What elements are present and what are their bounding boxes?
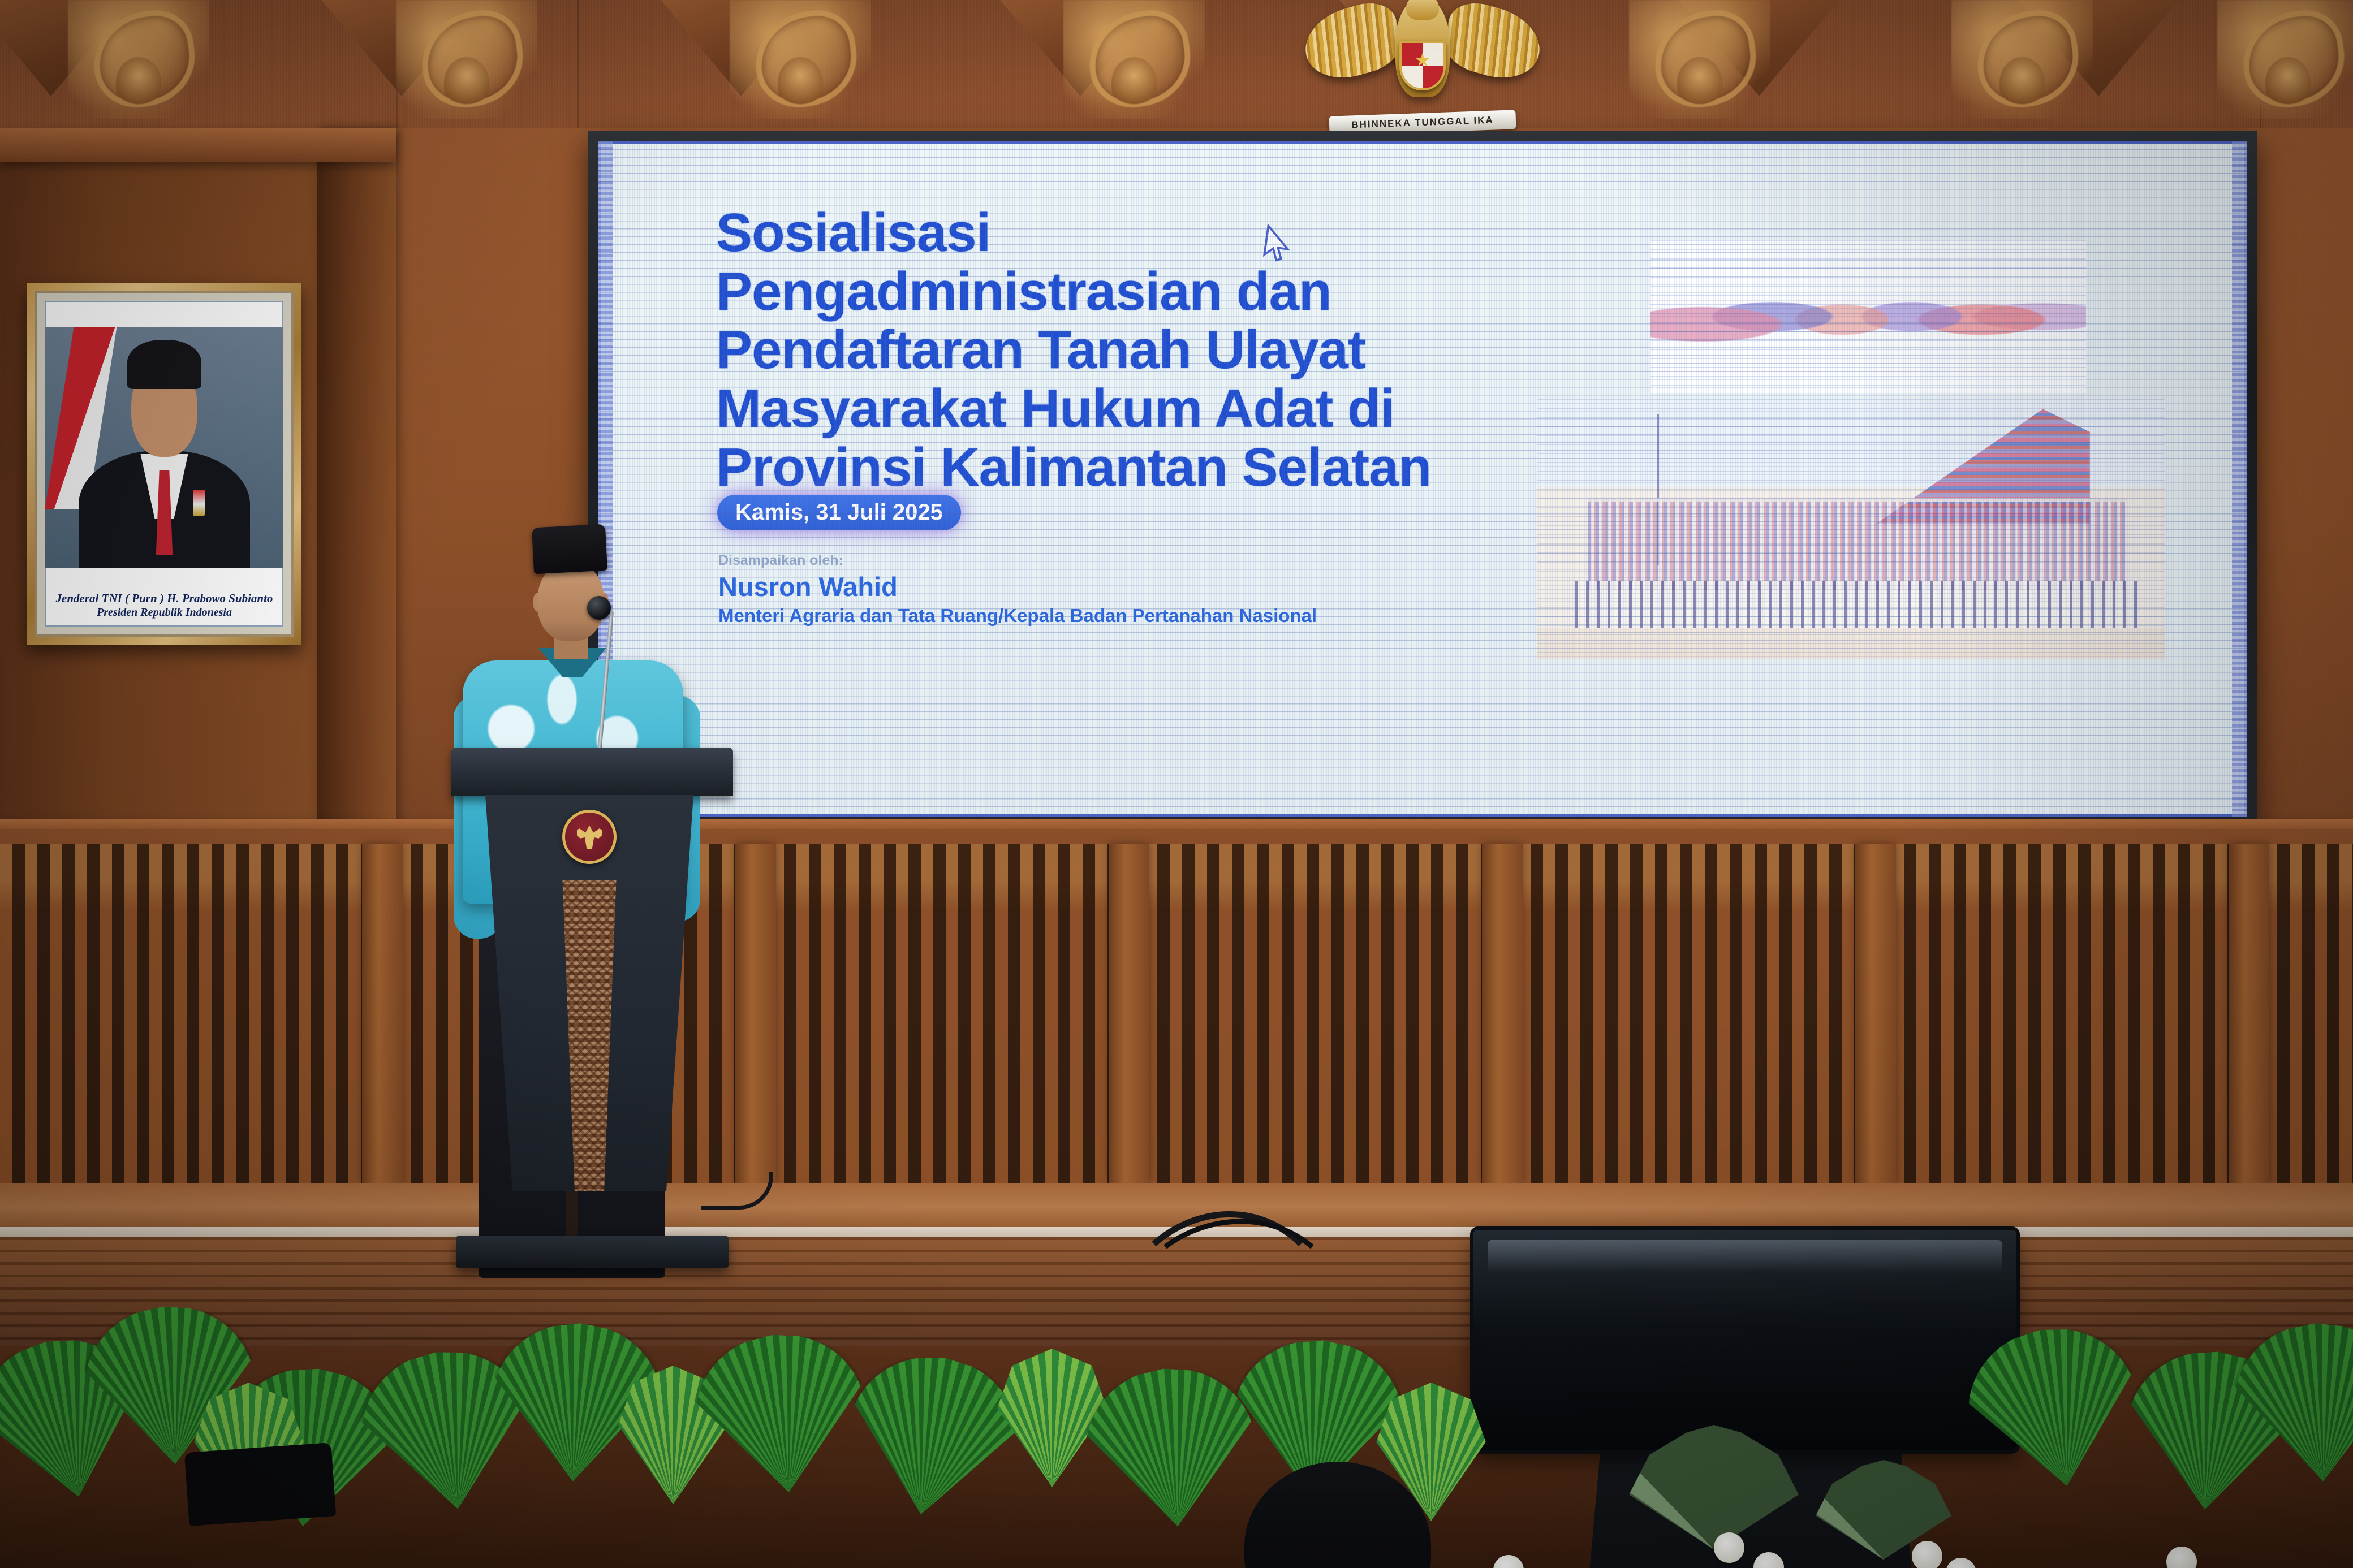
presented-by-label: Disampaikan oleh:: [718, 552, 843, 569]
wainscot-pilaster: [1109, 844, 1149, 1183]
portrait-caption-title: Presiden Republik Indonesia: [45, 606, 283, 620]
portrait-caption: Jenderal TNI ( Purn ) H. Prabowo Subiant…: [45, 591, 283, 620]
wainscot-pilaster: [1855, 844, 1896, 1183]
monitor-display: [1473, 1230, 2016, 1450]
garuda-left-wing-icon: [1297, 0, 1408, 88]
presentation-screen[interactable]: Sosialisasi Pengadministrasian dan Penda…: [598, 141, 2247, 817]
longhouse-stilts: [1575, 581, 2140, 633]
slide-title: Sosialisasi Pengadministrasian dan Penda…: [716, 204, 1598, 496]
portrait-photo: Jenderal TNI ( Purn ) H. Prabowo Subiant…: [45, 301, 283, 627]
carved-corbel-icon: [1951, 0, 2093, 119]
garuda-head-icon: [1406, 0, 1439, 20]
led-screen-bezel: Sosialisasi Pengadministrasian dan Penda…: [588, 131, 2257, 827]
shield-quadrant-beringin: [1423, 43, 1443, 66]
portrait-caption-name: Jenderal TNI ( Purn ) H. Prabowo Subiant…: [45, 591, 283, 606]
podium-garuda-seal-icon: [562, 810, 617, 864]
portrait-mat: Jenderal TNI ( Purn ) H. Prabowo Subiant…: [35, 291, 294, 637]
carved-corbel-icon: [1063, 0, 1205, 119]
carved-corbel-icon: [1629, 0, 1770, 119]
screen-right-edge: [2232, 141, 2247, 817]
wall-recess-trim: [317, 128, 396, 829]
speaking-podium: [459, 748, 725, 1268]
podium-seal-bird: [573, 824, 606, 850]
longhouse-ground: [1537, 628, 2165, 659]
speaker-peci-cap: [532, 524, 607, 574]
carved-corbel-icon: [68, 0, 209, 119]
monitor-screen-glare: [1488, 1240, 2002, 1273]
wainscot-pilaster: [2229, 844, 2269, 1183]
presenter-name: Nusron Wahid: [718, 571, 898, 602]
slide-title-line-2: Pengadministrasian dan: [716, 262, 1598, 321]
garuda-right-wing-icon: [1437, 0, 1548, 88]
wall-ledge: [0, 128, 396, 162]
slide-title-line-4: Masyarakat Hukum Adat di: [716, 379, 1598, 438]
podium-body: [476, 795, 703, 1191]
slide-date-badge: Kamis, 31 Juli 2025: [717, 495, 961, 530]
flag-pole: [1657, 414, 1659, 565]
wainscot-pilaster: [362, 844, 403, 1183]
carved-frieze: [0, 0, 2353, 136]
carved-corbel-icon: [396, 0, 537, 119]
wainscot-pilaster: [735, 844, 776, 1183]
carved-corbel-icon: [730, 0, 871, 119]
pancasila-shield-icon: [1399, 41, 1446, 90]
stage-cables: [1131, 1193, 1369, 1261]
portrait-medal-icon: [193, 490, 205, 516]
longhouse-body: [1588, 498, 2128, 590]
slide-title-line-3: Pendaftaran Tanah Ulayat: [716, 321, 1598, 379]
carved-corbel-icon: [2217, 0, 2353, 119]
balai-adat-photo: [1537, 399, 2165, 659]
slide-title-line-1: Sosialisasi: [716, 204, 1598, 262]
longhouse-roof: [1876, 409, 2089, 523]
auditorium-scene: Jenderal TNI ( Purn ) H. Prabowo Subiant…: [0, 0, 2353, 1568]
adat-dancers-photo: [1650, 240, 2086, 393]
presenter-role: Menteri Agraria dan Tata Ruang/Kepala Ba…: [718, 604, 1408, 628]
slat-carved-caps: [0, 844, 2353, 912]
monitor-cloth-skirt: [1581, 1439, 1920, 1568]
wainscot-pilaster: [1482, 844, 1523, 1183]
podium-lectern-top: [451, 748, 733, 796]
shield-quadrant-banteng: [1402, 43, 1423, 66]
podium-batik-panel: [559, 880, 620, 1225]
mouse-cursor-icon: [1260, 224, 1297, 267]
presidential-portrait-frame: Jenderal TNI ( Purn ) H. Prabowo Subiant…: [27, 283, 301, 645]
slide-title-line-5: Provinsi Kalimantan Selatan: [716, 438, 1598, 497]
microphone-head-icon: [587, 596, 611, 620]
confidence-monitor: [1473, 1230, 2016, 1568]
motto-text: BHINNEKA TUNGGAL IKA: [1351, 115, 1494, 131]
podium-base: [456, 1236, 729, 1268]
portrait-peci: [127, 340, 201, 388]
